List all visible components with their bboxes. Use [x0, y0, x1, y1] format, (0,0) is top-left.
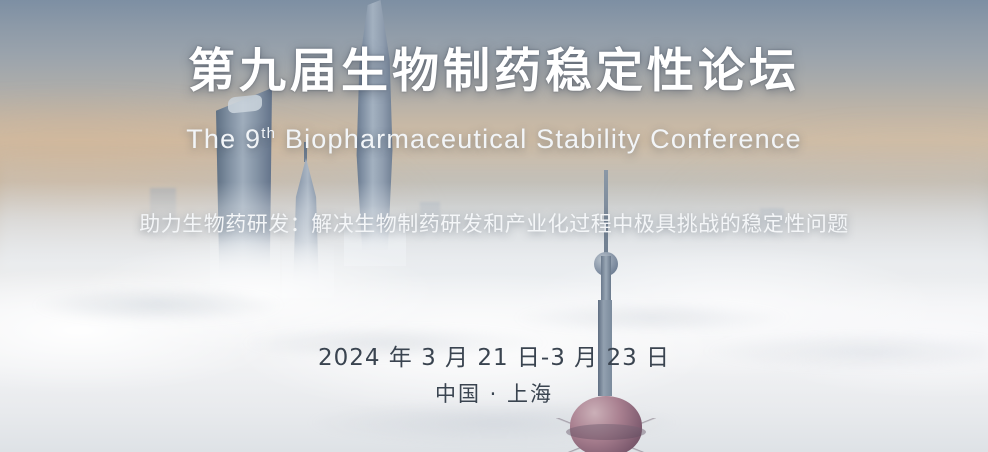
event-date: 2024 年 3 月 21 日-3 月 23 日: [0, 338, 988, 372]
event-location: 中国 · 上海: [0, 378, 988, 408]
poster-title-cn: 第九届生物制药稳定性论坛: [0, 32, 988, 101]
poster-text-layer: 第九届生物制药稳定性论坛 The 9th Biopharmaceutical S…: [0, 0, 988, 452]
poster-subtitle-cn: 助力生物药研发：解决生物制药研发和产业化过程中极具挑战的稳定性问题: [0, 208, 988, 238]
poster-title-en: The 9th Biopharmaceutical Stability Conf…: [0, 124, 988, 155]
conference-poster: 第九届生物制药稳定性论坛 The 9th Biopharmaceutical S…: [0, 0, 988, 452]
title-en-prefix: The 9: [186, 124, 261, 154]
title-en-ordinal-suffix: th: [261, 125, 276, 142]
title-en-rest: Biopharmaceutical Stability Conference: [276, 124, 802, 154]
